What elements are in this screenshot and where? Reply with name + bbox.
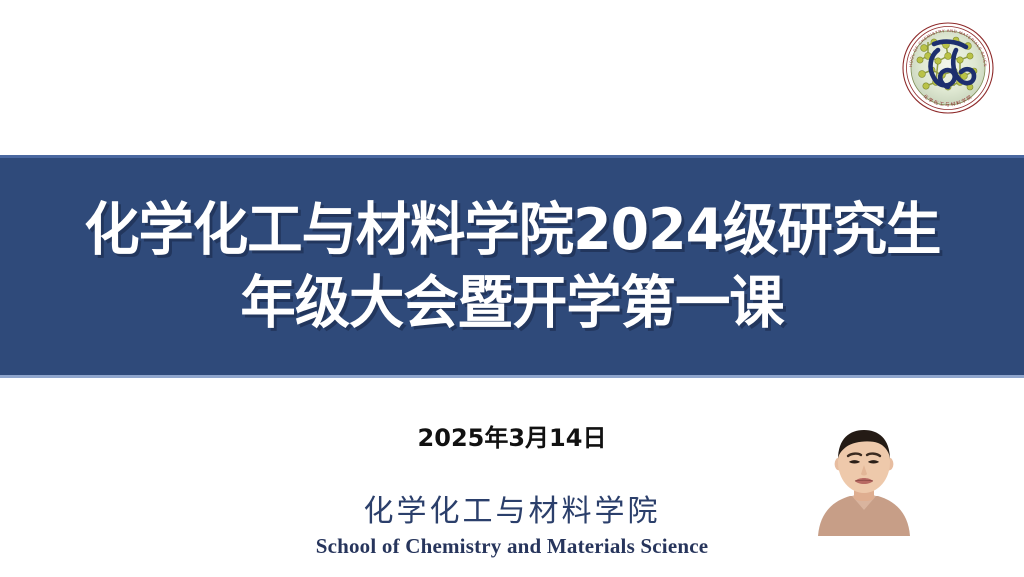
title-line-1: 化学化工与材料学院2024级研究生 (84, 201, 940, 259)
presentation-slide: SCHOOL OF CHEMISTRY AND MATERIALS SCIENC… (0, 0, 1024, 577)
university-seal-logo: SCHOOL OF CHEMISTRY AND MATERIALS SCIENC… (894, 14, 1002, 122)
footer-school-name-en: School of Chemistry and Materials Scienc… (0, 534, 1024, 559)
title-banner: 化学化工与材料学院2024级研究生 年级大会暨开学第一课 (0, 155, 1024, 378)
title-line-2: 年级大会暨开学第一课 (240, 274, 783, 332)
presenter-video-cutout (800, 424, 928, 536)
